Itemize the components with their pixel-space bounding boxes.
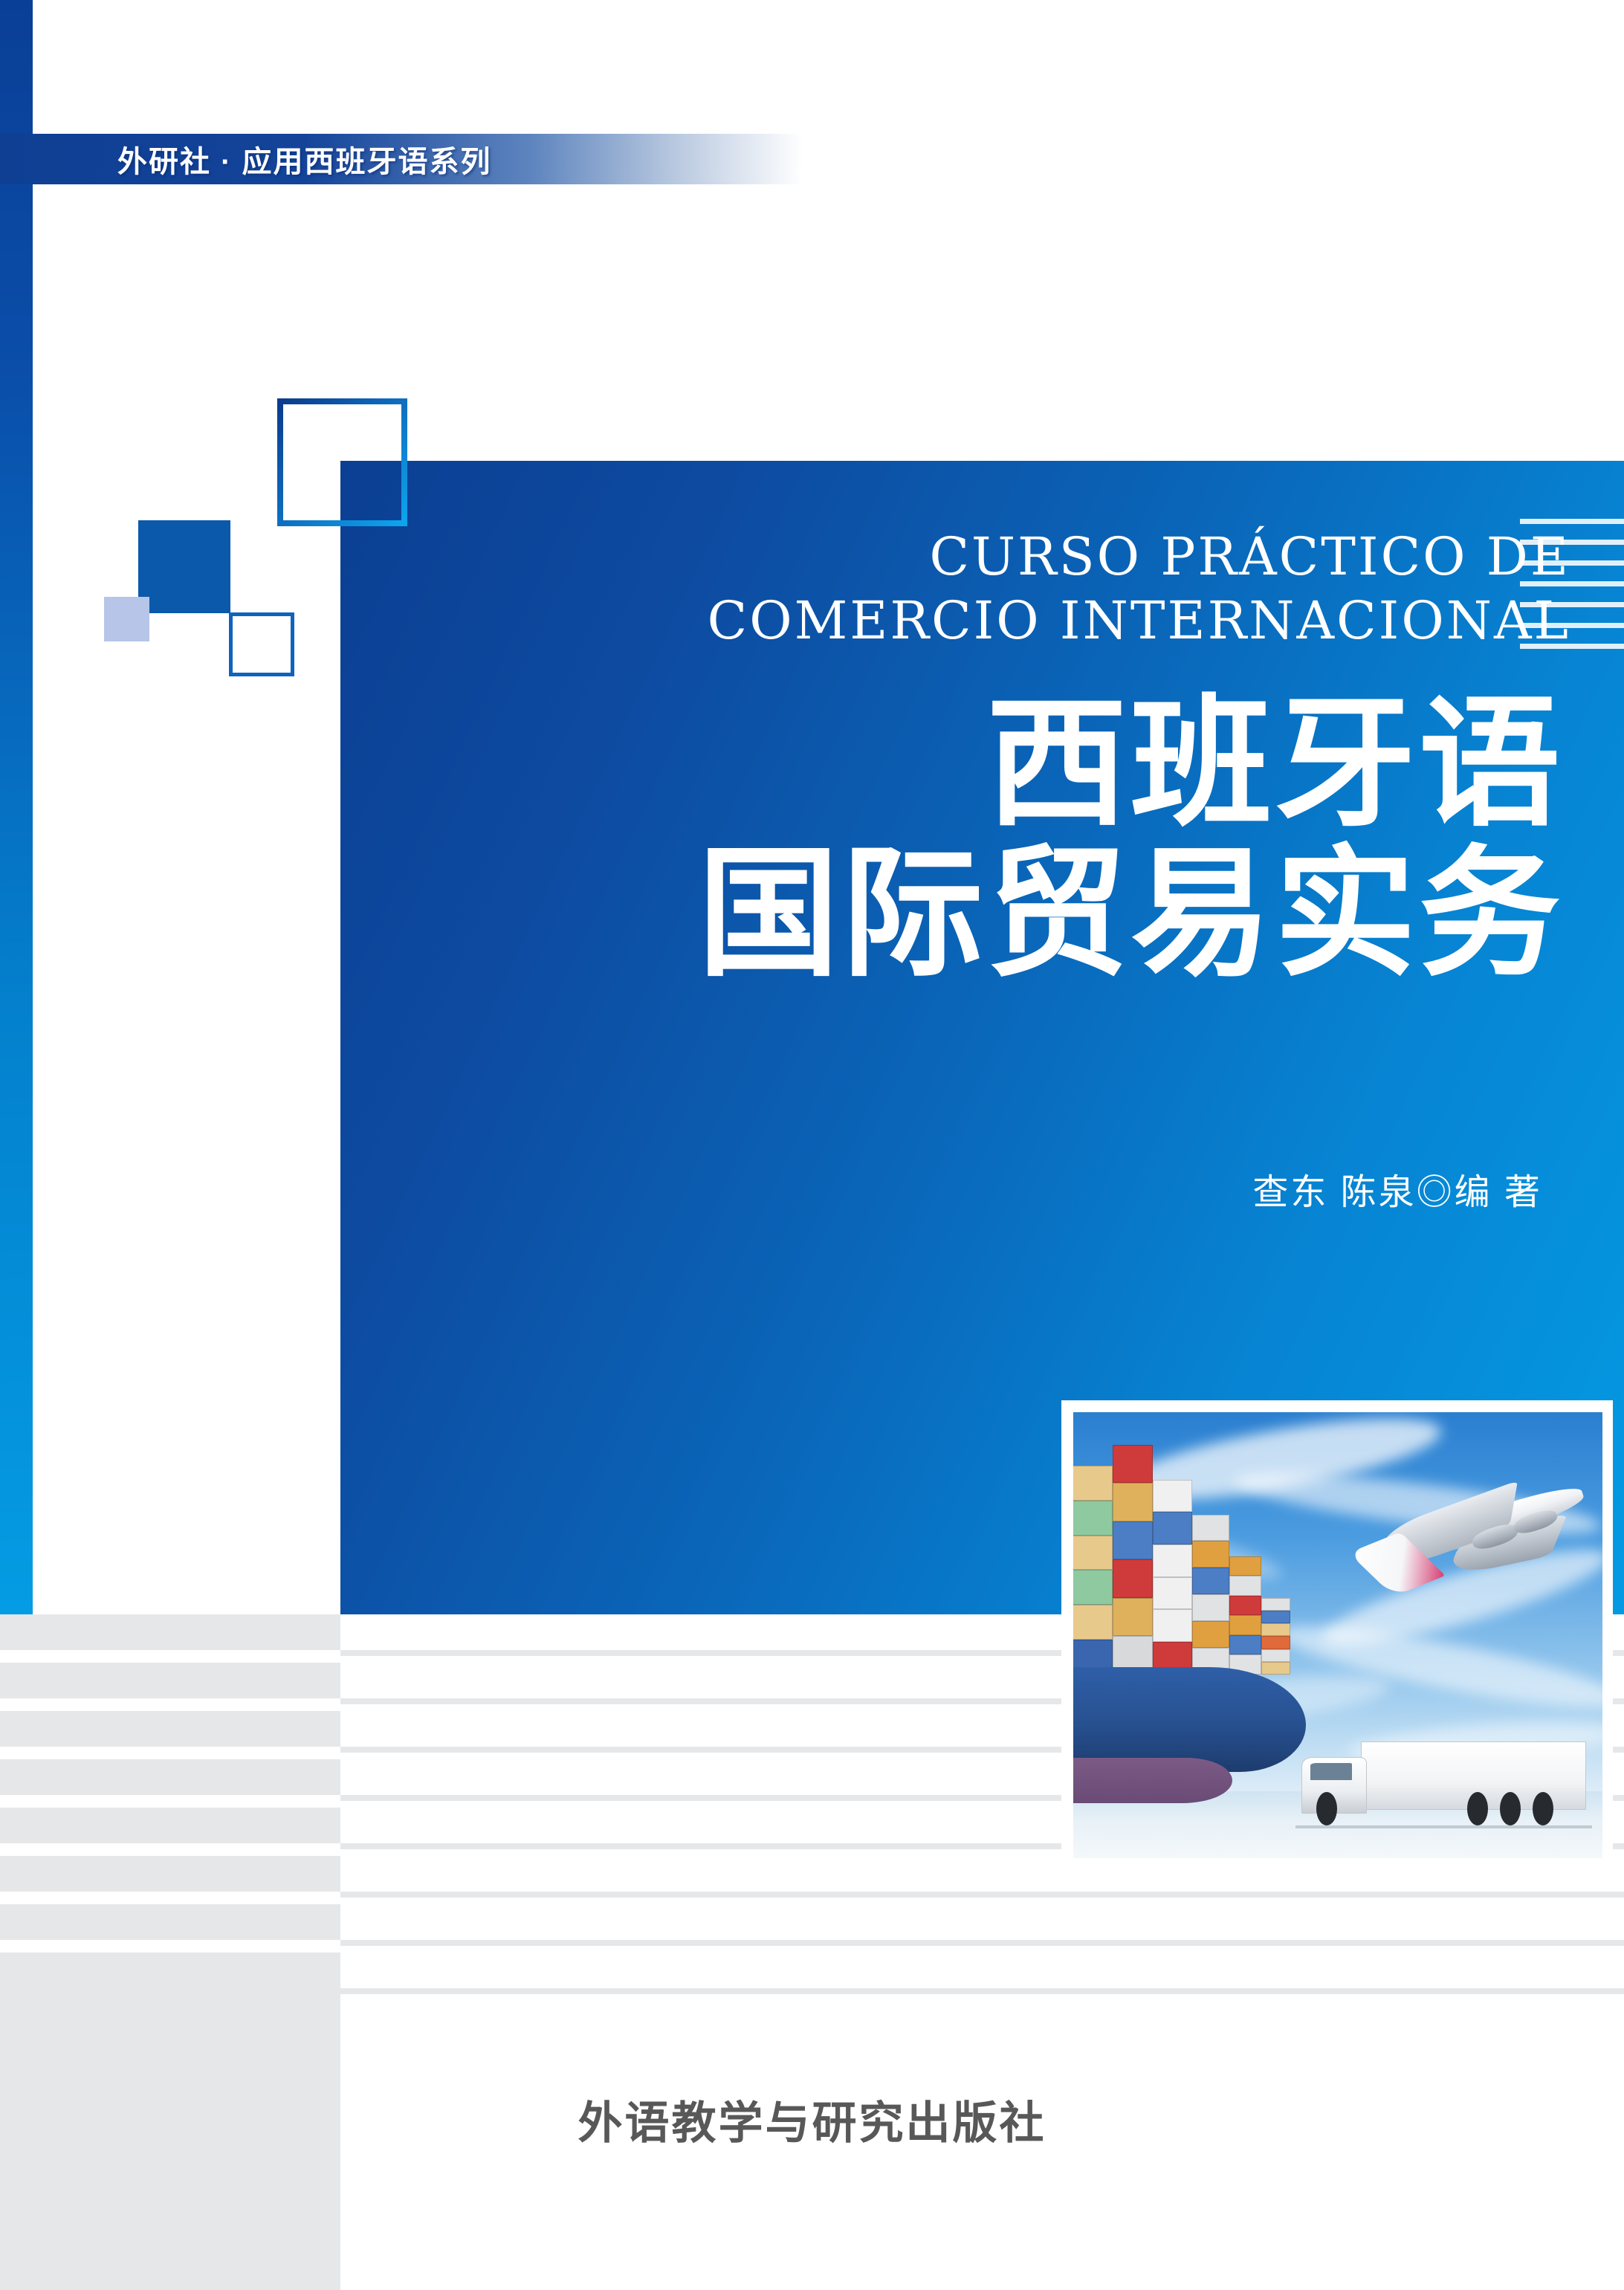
truck-wheel	[1316, 1792, 1337, 1825]
shipping-container	[1261, 1623, 1290, 1636]
series-banner: 外研社 · 应用西班牙语系列	[0, 134, 803, 184]
stripe-band	[0, 1904, 340, 1940]
shipping-container	[1261, 1598, 1290, 1611]
truck-wheel	[1500, 1792, 1521, 1825]
shipping-container	[1229, 1615, 1261, 1635]
shipping-container	[1073, 1536, 1113, 1571]
container-stack	[1229, 1556, 1261, 1675]
shipping-container	[1153, 1577, 1192, 1610]
shipping-container	[1229, 1596, 1261, 1616]
shipping-container	[1192, 1594, 1229, 1621]
stripe-line	[340, 1988, 1624, 1994]
ship-bulbous-bow	[1073, 1758, 1232, 1803]
stripe-band	[0, 1808, 340, 1843]
decorative-rule-line	[1520, 519, 1624, 524]
spanish-title-line-1: CURSO PRÁCTICO DE	[929, 526, 1570, 587]
shipping-container	[1229, 1556, 1261, 1576]
shipping-container	[1113, 1559, 1152, 1597]
shipping-container	[1113, 1483, 1152, 1521]
decorative-square-outline-large	[277, 398, 407, 526]
truck-windshield	[1310, 1763, 1352, 1781]
series-label: 外研社 · 应用西班牙语系列	[117, 138, 492, 181]
shipping-container	[1192, 1568, 1229, 1594]
container-stack	[1192, 1515, 1229, 1675]
shipping-container	[1113, 1598, 1152, 1636]
decorative-square-outline-small	[229, 612, 294, 676]
container-stack	[1113, 1445, 1152, 1675]
publisher-name: 外语教学与研究出版社	[0, 2087, 1624, 2152]
chinese-title-line-1: 西班牙语	[986, 685, 1563, 843]
shipping-container	[1113, 1521, 1152, 1559]
shipping-container	[1261, 1649, 1290, 1662]
container-ship	[1073, 1466, 1327, 1814]
shipping-container	[1192, 1541, 1229, 1568]
container-stack	[1153, 1480, 1192, 1675]
shipping-container	[1073, 1501, 1113, 1536]
stripe-band	[0, 1759, 340, 1795]
shipping-container	[1261, 1636, 1290, 1649]
truck-wheel	[1467, 1792, 1488, 1825]
shipping-container	[1113, 1445, 1152, 1483]
shipping-container	[1229, 1576, 1261, 1596]
stripe-band	[0, 1856, 340, 1892]
shipping-container	[1073, 1466, 1113, 1501]
author-byline: 查东 陈泉◎编 著	[340, 1162, 1542, 1214]
truck-wheel	[1533, 1792, 1553, 1825]
spanish-title: CURSO PRÁCTICO DE COMERCIO INTERNACIONAL	[340, 531, 1570, 647]
container-stack	[1073, 1466, 1113, 1675]
chinese-title-line-2: 国际贸易实务	[340, 843, 1563, 987]
chinese-title: 西班牙语 国际贸易实务	[340, 693, 1563, 987]
shipping-container	[1153, 1609, 1192, 1642]
spanish-title-line-2: COMERCIO INTERNACIONAL	[340, 595, 1570, 647]
shipping-container	[1153, 1480, 1192, 1513]
decorative-square-filled-pale	[104, 597, 149, 641]
container-stack	[1261, 1598, 1290, 1675]
stripe-pattern-left	[0, 1614, 340, 2290]
stripe-band	[0, 1663, 340, 1698]
ship-hull	[1073, 1667, 1306, 1771]
shipping-container	[1192, 1621, 1229, 1648]
logistics-photo	[1073, 1412, 1602, 1858]
shipping-container	[1073, 1605, 1113, 1640]
shipping-container	[1261, 1611, 1290, 1623]
spine-strip	[0, 0, 33, 1614]
road-surface	[1295, 1825, 1592, 1828]
shipping-container	[1073, 1570, 1113, 1605]
decorative-square-filled-blue	[138, 520, 230, 613]
cargo-airplane	[1365, 1470, 1597, 1613]
shipping-container	[1229, 1635, 1261, 1655]
stripe-band	[0, 1711, 340, 1747]
book-cover: 外研社 · 应用西班牙语系列 CURSO PRÁCTICO DE COMERCI…	[0, 0, 1624, 2290]
shipping-container	[1153, 1545, 1192, 1577]
stripe-line	[340, 1940, 1624, 1946]
cover-photo-frame	[1061, 1400, 1613, 1869]
shipping-container	[1153, 1512, 1192, 1545]
semi-truck	[1295, 1733, 1592, 1831]
shipping-container	[1192, 1515, 1229, 1542]
stripe-band	[0, 1614, 340, 1650]
shipping-container	[1261, 1662, 1290, 1675]
stripe-line	[340, 1892, 1624, 1898]
